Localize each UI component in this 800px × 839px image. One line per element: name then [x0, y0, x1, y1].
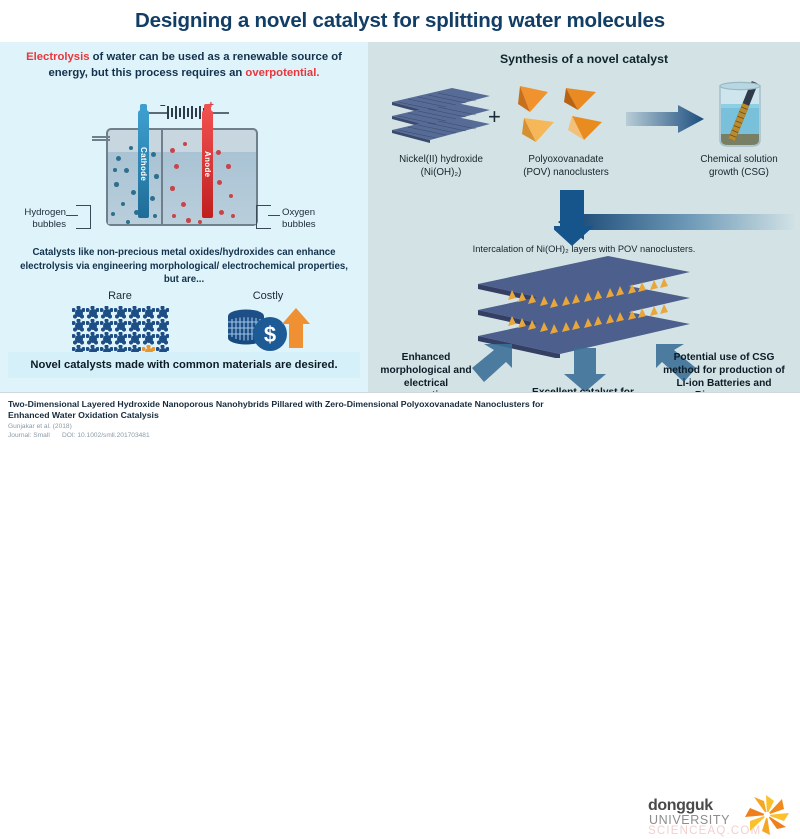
oxygen-bubble	[198, 220, 202, 224]
bottom-banner: Novel catalysts made with common materia…	[8, 352, 360, 378]
right-panel-synthesis: Synthesis of a novel catalyst	[368, 42, 800, 392]
reagent1-line1: Nickel(II) hydroxide	[378, 154, 504, 167]
oxygen-bubble	[183, 142, 187, 146]
hydrogen-bubble	[151, 152, 156, 157]
anode-electrode: Anode	[202, 110, 213, 218]
synthesis-title: Synthesis of a novel catalyst	[368, 52, 800, 66]
gear-icon	[114, 306, 127, 319]
hydrogen-leader-stub	[66, 215, 78, 216]
citation-title: Two-Dimensional Layered Hydroxide Nanopo…	[8, 399, 568, 422]
battery-negative-sign: –	[160, 100, 166, 111]
outcome-arrow-left-icon	[470, 342, 514, 384]
label-hydrogen-line2: bubbles	[6, 219, 66, 231]
lead-statement: Electrolysis of water can be used as a r…	[14, 50, 354, 81]
hydrogen-bubble	[113, 168, 117, 172]
infographic-root: Designing a novel catalyst for splitting…	[0, 0, 800, 449]
hydrogen-bubble	[129, 146, 133, 150]
costly-label: Costly	[228, 290, 308, 302]
oxygen-bubble	[217, 180, 222, 185]
product-line2: growth (CSG)	[674, 167, 800, 180]
dollar-coin-icon: $	[253, 317, 287, 351]
hydrogen-bubble	[121, 202, 125, 206]
hydrogen-bubble	[111, 212, 115, 216]
nickel-hydroxide-layers-icon	[386, 84, 496, 146]
reagent2-line2: (POV) nanoclusters	[502, 167, 630, 180]
tank-divider-membrane	[161, 128, 163, 226]
svg-text:$: $	[264, 322, 276, 347]
lead-highlight-electrolysis: Electrolysis	[26, 51, 89, 63]
hydrogen-bubble	[116, 156, 121, 161]
gear-icon	[86, 319, 99, 332]
oxygen-leader-line	[256, 205, 271, 229]
hydrogen-bubble	[150, 196, 155, 201]
gear-icon	[156, 306, 169, 319]
gear-icon	[72, 306, 85, 319]
anode-label: Anode	[203, 151, 212, 177]
gear-icon	[100, 319, 113, 332]
intercalation-caption: Intercalation of Ni(OH)₂ layers with POV…	[368, 244, 800, 254]
battery-icon	[167, 106, 207, 119]
oxygen-leader-stub	[268, 215, 280, 216]
hydrogen-bubble	[126, 220, 130, 224]
lead-highlight-overpotential: overpotential.	[245, 67, 319, 79]
page-title: Designing a novel catalyst for splitting…	[135, 9, 665, 33]
cost-coins-icon: $	[222, 304, 314, 354]
hydrogen-bubble	[154, 174, 159, 179]
hydrogen-leader-line	[76, 205, 91, 229]
oxygen-bubble	[174, 164, 179, 169]
label-oxygen-bubbles: Oxygen bubbles	[282, 207, 352, 230]
electrolysis-tank	[106, 128, 258, 226]
hydrogen-bubble	[114, 182, 119, 187]
label-oxygen-line1: Oxygen	[282, 207, 352, 219]
oxygen-bubble	[219, 210, 224, 215]
rare-label: Rare	[80, 290, 160, 302]
citation-authors: Gunjakar et al. (2018)	[8, 423, 72, 430]
oxygen-bubble	[181, 202, 186, 207]
gear-icon	[142, 306, 155, 319]
gear-icon	[100, 332, 113, 345]
left-panel-electrolysis: Electrolysis of water can be used as a r…	[0, 42, 368, 392]
outcome-arrow-down-icon	[564, 348, 606, 392]
gear-icon	[86, 332, 99, 345]
gear-icon	[142, 332, 155, 345]
label-hydrogen-bubbles: Hydrogen bubbles	[6, 207, 66, 230]
catalyst-note: Catalysts like non-precious metal oxides…	[18, 246, 350, 287]
citation-doi: DOI: 10.1002/smll.201703481	[62, 432, 150, 439]
cathode-label: Cathode	[139, 147, 148, 181]
gear-icon	[128, 319, 141, 332]
dongguk-university-logo: dongguk UNIVERSITY SCIENCEAQ.COM	[648, 795, 794, 839]
up-arrow-icon	[282, 308, 310, 348]
banner-text: Novel catalysts made with common materia…	[30, 359, 337, 371]
process-arrow-right-icon	[626, 104, 706, 134]
beaker-csg-icon	[704, 78, 776, 152]
pinwheel-logo-icon	[744, 795, 790, 835]
label-hydrogen-line1: Hydrogen	[6, 207, 66, 219]
gear-icon	[142, 319, 155, 332]
gear-icon	[114, 319, 127, 332]
reagent1-line2: (Ni(OH)₂)	[378, 167, 504, 180]
oxygen-bubble	[170, 148, 175, 153]
hydrogen-bubble	[153, 214, 157, 218]
gear-icon	[156, 319, 169, 332]
label-oxygen-line2: bubbles	[282, 219, 352, 231]
product-caption: Chemical solution growth (CSG)	[674, 154, 800, 179]
hydrogen-bubble	[131, 190, 136, 195]
oxygen-bubble	[186, 218, 191, 223]
footer-citation-bar: Two-Dimensional Layered Hydroxide Nanopo…	[0, 392, 800, 450]
gear-icon	[72, 332, 85, 345]
oxygen-bubble	[216, 150, 221, 155]
gear-icon	[114, 332, 127, 345]
cathode-electrode: Cathode	[138, 110, 149, 218]
gear-icon	[156, 332, 169, 345]
gear-icon	[86, 306, 99, 319]
reagent1-caption: Nickel(II) hydroxide (Ni(OH)₂)	[378, 154, 504, 179]
reagent2-line1: Polyoxovanadate	[502, 154, 630, 167]
gear-icon	[100, 306, 113, 319]
page-header: Designing a novel catalyst for splitting…	[0, 0, 800, 42]
oxygen-bubble	[229, 194, 233, 198]
plus-symbol: +	[488, 104, 501, 130]
gear-icon	[128, 306, 141, 319]
gear-icon	[128, 332, 141, 345]
oxygen-bubble	[170, 186, 175, 191]
tank-spout	[92, 136, 110, 141]
oxygen-bubble	[172, 214, 176, 218]
reagent2-caption: Polyoxovanadate (POV) nanoclusters	[502, 154, 630, 179]
product-line1: Chemical solution	[674, 154, 800, 167]
citation-journal: Journal: Small	[8, 432, 50, 439]
hydrogen-bubble	[124, 168, 129, 173]
oxygen-bubble	[226, 164, 231, 169]
oxygen-bubble	[231, 214, 235, 218]
intercalation-down-arrow-icon	[554, 190, 614, 248]
pov-nanoclusters-icon	[514, 82, 614, 148]
gear-icon	[72, 319, 85, 332]
